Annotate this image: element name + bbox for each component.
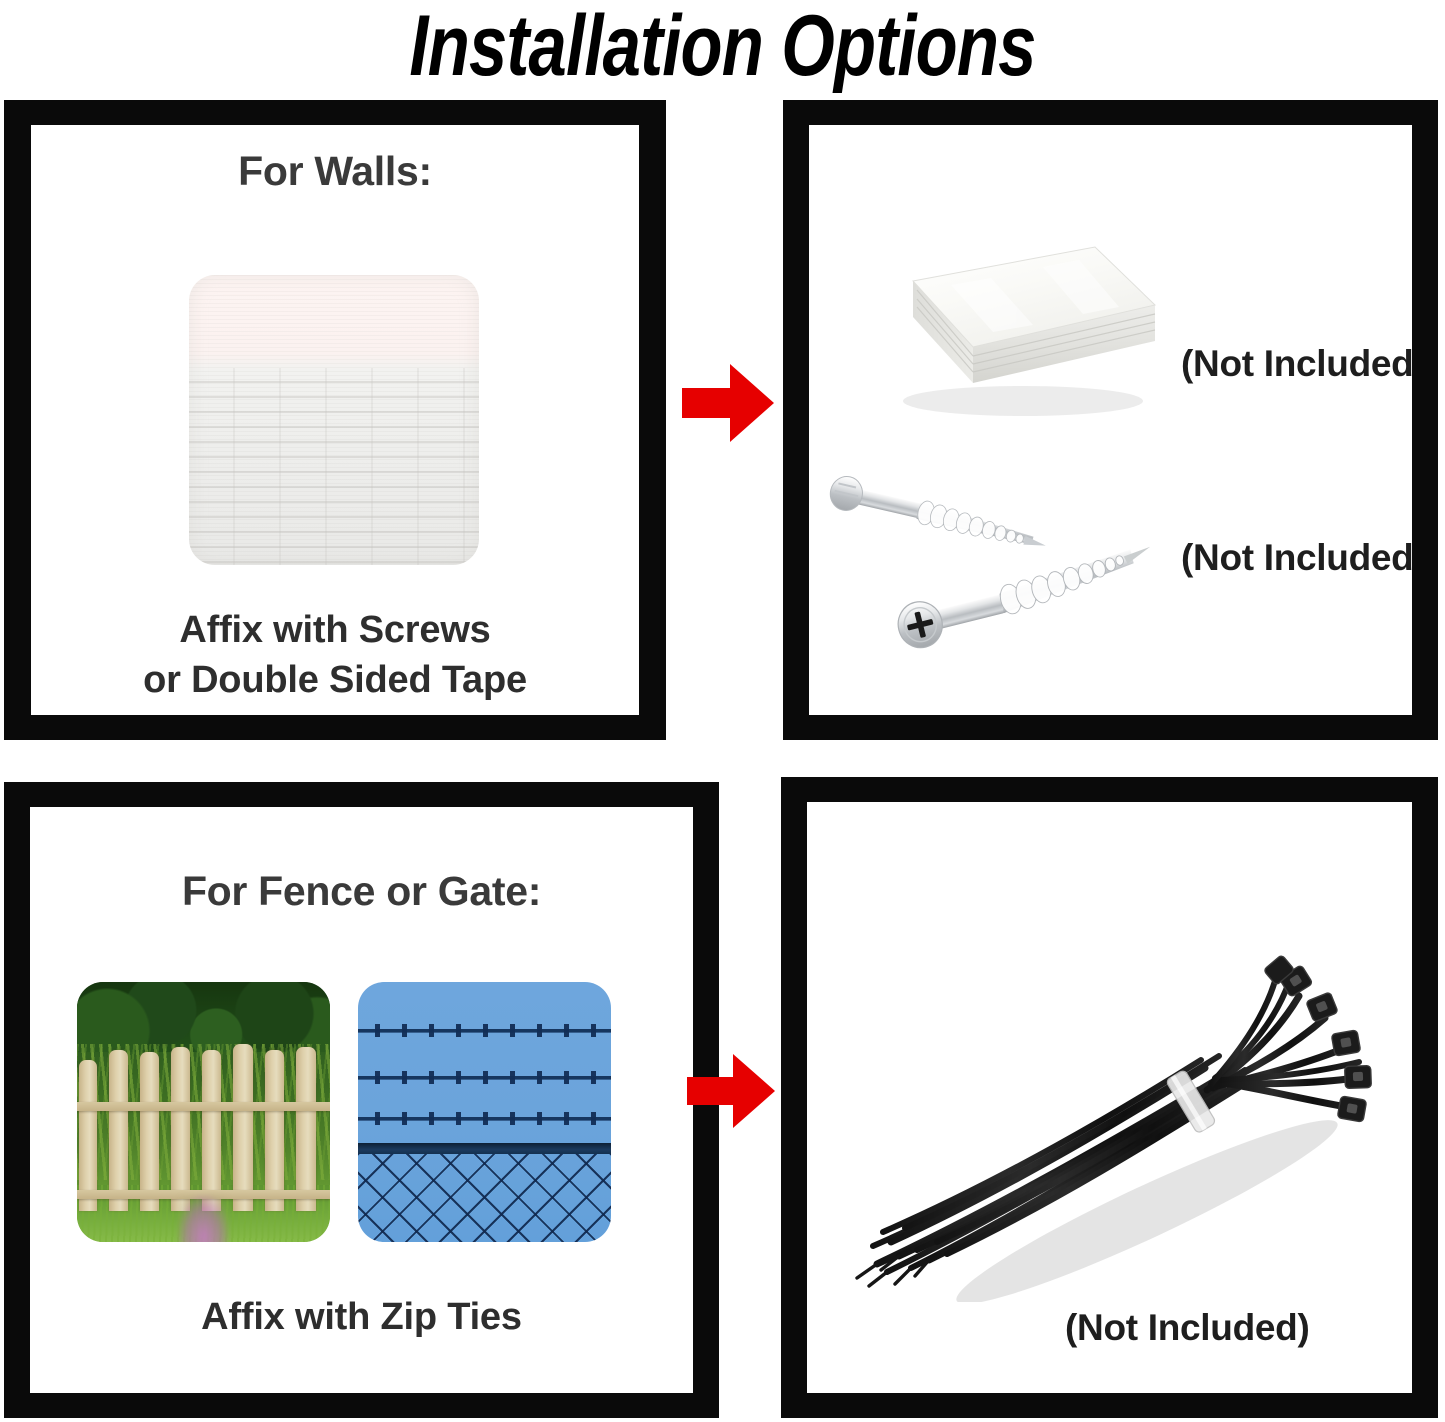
for-fence-or-gate-heading: For Fence or Gate: xyxy=(30,867,693,915)
tape-not-included-label: (Not Included) xyxy=(1181,343,1412,385)
wall-grain-texture xyxy=(189,275,479,565)
red-right-arrow-bottom xyxy=(685,1048,777,1134)
walls-caption-line-2: or Double Sided Tape xyxy=(31,655,639,705)
wood-picket-fence-thumbnail xyxy=(77,982,330,1242)
panel-wall-hardware: (Not Included) xyxy=(783,100,1438,740)
purple-path-patch xyxy=(178,1195,229,1242)
panel-zip-ties-content: (Not Included) xyxy=(807,802,1412,1393)
zip-ties-not-included-label: (Not Included) xyxy=(1065,1307,1309,1349)
panel-for-walls: For Walls: Affix with Screws or Double S… xyxy=(4,100,666,740)
screws-image xyxy=(823,455,1183,655)
panel-for-fence-or-gate: For Fence or Gate: xyxy=(4,782,719,1418)
chain-link-barbed-wire-fence-thumbnail xyxy=(358,982,611,1242)
panel-for-fence-or-gate-content: For Fence or Gate: xyxy=(30,807,693,1393)
fence-caption-line-1: Affix with Zip Ties xyxy=(30,1292,693,1342)
double-sided-tape-stack-image xyxy=(873,233,1163,423)
red-right-arrow-top xyxy=(680,358,776,448)
black-zip-ties-bundle-image xyxy=(847,912,1387,1302)
panel-wall-hardware-content: (Not Included) xyxy=(809,125,1412,715)
white-brick-wall-thumbnail xyxy=(189,275,479,565)
screws-not-included-label: (Not Included) xyxy=(1181,537,1412,579)
panel-zip-ties: (Not Included) xyxy=(781,777,1438,1418)
page-title: Installation Options xyxy=(145,0,1301,94)
installation-options-infographic: Installation Options For Walls: Affix wi… xyxy=(0,0,1445,1422)
walls-caption-line-1: Affix with Screws xyxy=(31,605,639,655)
panel-for-walls-content: For Walls: Affix with Screws or Double S… xyxy=(31,125,639,715)
hedge-background xyxy=(77,982,330,1052)
for-walls-heading: For Walls: xyxy=(31,147,639,195)
